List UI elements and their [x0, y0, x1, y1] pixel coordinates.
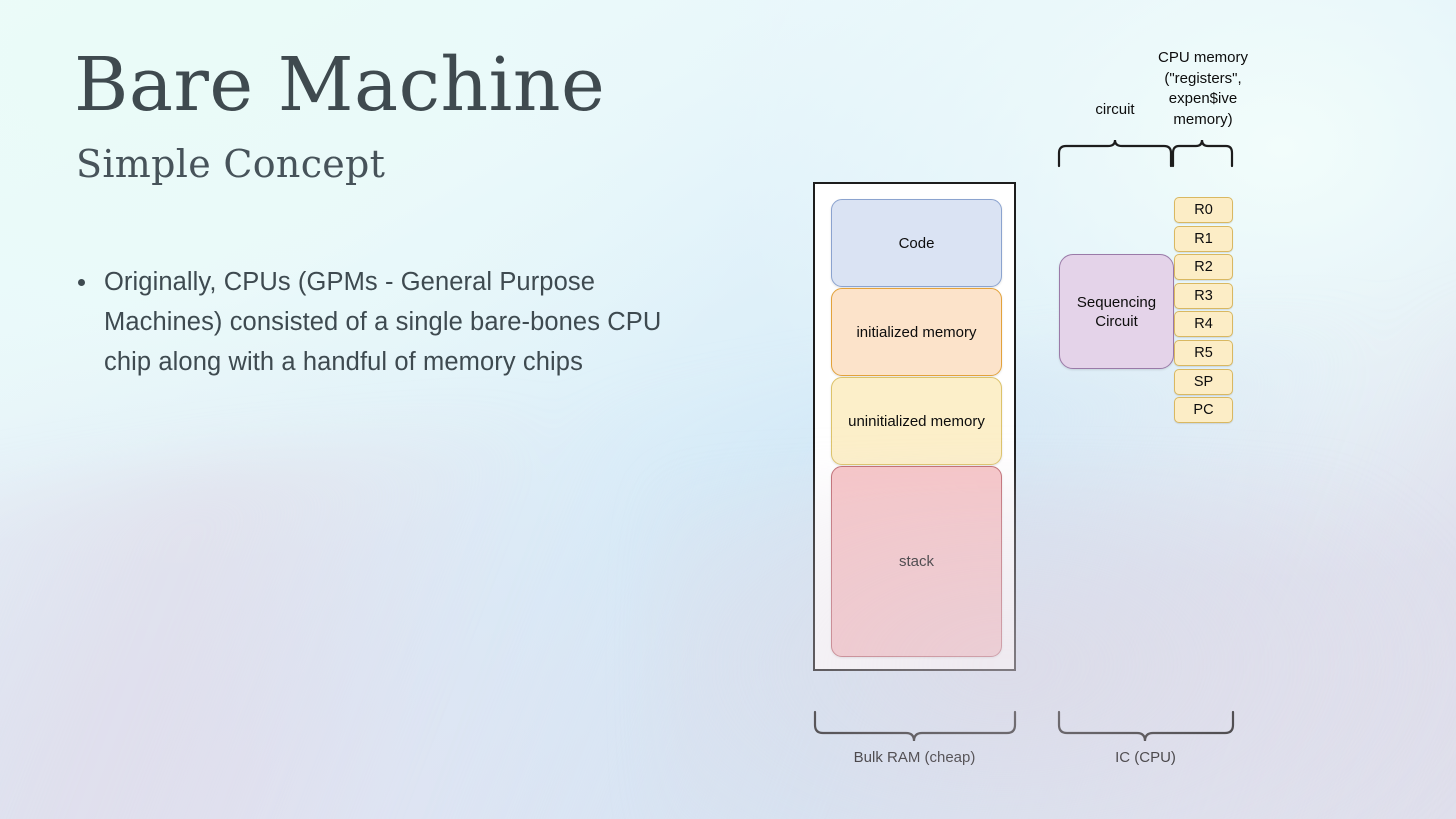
memory-block-initialized-memory[interactable]: initialized memory [831, 288, 1002, 376]
register-label: R3 [1194, 288, 1213, 304]
register-cell-r2[interactable]: R2 [1174, 254, 1233, 280]
brace-label-cpu-memory: CPU memory ("registers", expen$ive memor… [1140, 48, 1266, 130]
sequencing-circuit-block[interactable]: Sequencing Circuit [1059, 254, 1174, 369]
bulk-ram-container: Code initialized memory uninitialized me… [813, 182, 1016, 671]
register-label: R0 [1194, 202, 1213, 218]
register-cell-r4[interactable]: R4 [1174, 311, 1233, 337]
register-cell-sp[interactable]: SP [1174, 369, 1233, 395]
memory-block-label: uninitialized memory [848, 413, 985, 430]
memory-block-code[interactable]: Code [831, 199, 1002, 287]
register-label: SP [1194, 374, 1213, 390]
brace-ic-cpu-icon [1056, 712, 1236, 742]
architecture-diagram: Code initialized memory uninitialized me… [0, 0, 1456, 819]
sequencing-circuit-label-line2: Circuit [1095, 312, 1138, 331]
brace-circuit-icon [1056, 140, 1174, 166]
memory-block-label: initialized memory [856, 324, 976, 341]
memory-block-uninitialized-memory[interactable]: uninitialized memory [831, 377, 1002, 465]
brace-bulk-ram-icon [812, 712, 1018, 742]
register-stack: R0 R1 R2 R3 R4 R5 SP PC [1174, 197, 1233, 426]
register-label: R4 [1194, 316, 1213, 332]
register-label: R2 [1194, 259, 1213, 275]
register-cell-r0[interactable]: R0 [1174, 197, 1233, 223]
register-label: R5 [1194, 345, 1213, 361]
register-label: PC [1193, 402, 1213, 418]
register-cell-r1[interactable]: R1 [1174, 226, 1233, 252]
register-cell-r3[interactable]: R3 [1174, 283, 1233, 309]
brace-cpu-memory-icon [1170, 140, 1235, 166]
brace-label-ic-cpu: IC (CPU) [1058, 748, 1233, 769]
register-label: R1 [1194, 231, 1213, 247]
memory-block-label: stack [899, 553, 934, 570]
memory-block-label: Code [899, 235, 935, 252]
memory-block-stack[interactable]: stack [831, 466, 1002, 657]
register-cell-r5[interactable]: R5 [1174, 340, 1233, 366]
register-cell-pc[interactable]: PC [1174, 397, 1233, 423]
sequencing-circuit-label-line1: Sequencing [1077, 293, 1156, 312]
brace-label-bulk-ram: Bulk RAM (cheap) [813, 748, 1016, 769]
slide-canvas: Bare Machine Simple Concept Originally, … [0, 0, 1456, 819]
